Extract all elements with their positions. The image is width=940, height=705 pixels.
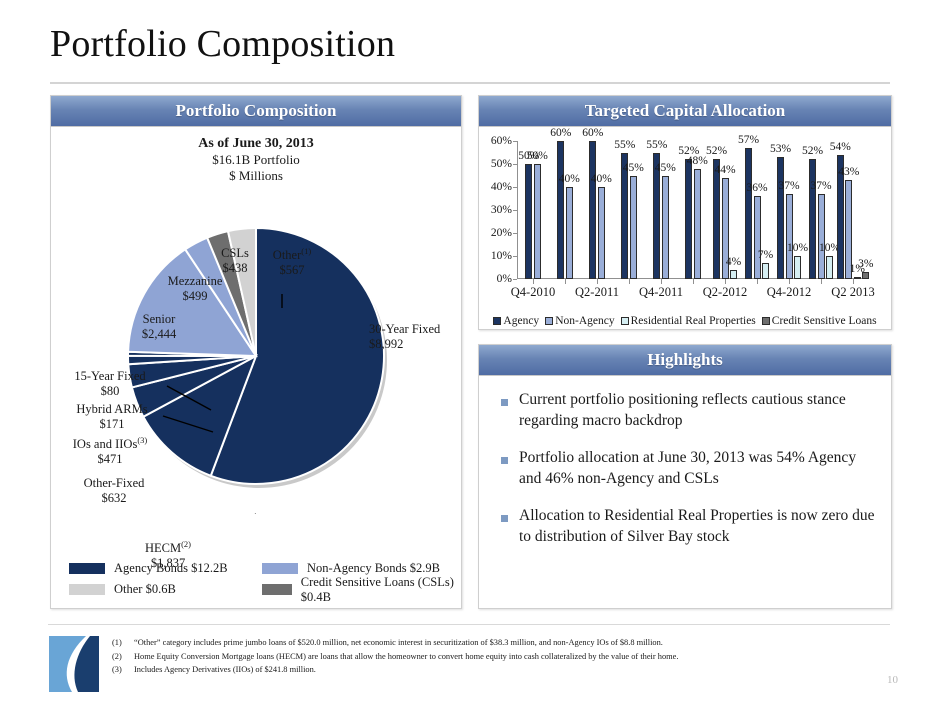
pie-slice-value: $567 <box>257 263 327 278</box>
title-divider <box>50 82 890 84</box>
pie-slice-value: $80 <box>55 384 165 399</box>
bar <box>818 194 825 279</box>
pie-slice-value: $632 <box>59 491 169 506</box>
bullet-icon <box>501 399 508 406</box>
bar-legend-item: Credit Sensitive Loans <box>762 315 877 327</box>
bar-chart-legend: AgencyNon-AgencyResidential Real Propert… <box>479 315 891 327</box>
bar <box>557 141 564 279</box>
y-axis-tick-label: 0% <box>497 273 512 285</box>
bar-legend-label: Non-Agency <box>555 315 614 327</box>
footnote-row: (1)“Other” category includes prime jumbo… <box>112 636 872 650</box>
bar-group: 53%37%10% <box>773 141 805 279</box>
legend-swatch-icon <box>621 317 629 325</box>
legend-swatch-icon <box>493 317 501 325</box>
y-axis-tick-label: 40% <box>491 181 512 193</box>
bar <box>794 256 801 279</box>
bar-value-label: 45% <box>623 162 644 174</box>
bar-value-label: 44% <box>714 164 735 176</box>
bar-chart-plot: 0%10%20%30%40%50%60%50%50%Q4-201060%40%6… <box>517 141 869 279</box>
footnotes: (1)“Other” category includes prime jumbo… <box>112 636 872 677</box>
footnote-row: (3)Includes Agency Derivatives (IIOs) of… <box>112 663 872 677</box>
bar <box>685 159 692 279</box>
x-axis-tick-mark <box>565 279 566 284</box>
bar-value-label: 3% <box>858 258 873 270</box>
bar-value-label: 4% <box>726 256 741 268</box>
targeted-capital-allocation-panel: Targeted Capital Allocation 0%10%20%30%4… <box>478 95 892 330</box>
footer-divider <box>48 624 890 625</box>
portfolio-composition-header: Portfolio Composition <box>51 96 461 127</box>
bar-value-label: 60% <box>582 127 603 139</box>
bar <box>777 157 784 279</box>
bar-value-label: 54% <box>830 141 851 153</box>
bar-legend-label: Credit Sensitive Loans <box>772 315 877 327</box>
pie-slice-name: IOs and IIOs(3) <box>51 435 169 452</box>
bar <box>754 196 761 279</box>
bar <box>745 148 752 279</box>
bar-value-label: 52% <box>706 145 727 157</box>
x-axis-tick-mark <box>853 279 854 284</box>
highlight-text: Portfolio allocation at June 30, 2013 wa… <box>519 448 875 489</box>
y-axis-tick-label: 60% <box>491 135 512 147</box>
bar-value-label: 45% <box>655 162 676 174</box>
bar <box>534 164 541 279</box>
highlights-list: Current portfolio positioning reflects c… <box>479 376 891 548</box>
pie-subtitle-unit: $ Millions <box>51 168 461 184</box>
bar-value-label: 55% <box>614 139 635 151</box>
y-axis-tick-label: 20% <box>491 227 512 239</box>
highlight-item: Allocation to Residential Real Propertie… <box>495 506 875 547</box>
bar <box>826 256 833 279</box>
x-axis-tick-label: Q4-2011 <box>639 285 683 300</box>
bar-value-label: 53% <box>770 143 791 155</box>
company-logo <box>46 633 102 695</box>
pie-slice-label: 30-Year Fixed$8,992 <box>369 322 479 353</box>
x-axis-tick-mark <box>629 279 630 284</box>
legend-swatch-icon <box>69 584 105 595</box>
bar-value-label: 57% <box>738 134 759 146</box>
x-axis-tick-mark <box>789 279 790 284</box>
pie-slice-name: Hybrid ARMs <box>57 402 167 417</box>
pie-slice-value: $2,444 <box>111 327 207 342</box>
pie-slice-label: 15-Year Fixed$80 <box>55 369 165 400</box>
bar <box>854 277 861 279</box>
footnote-row: (2)Home Equity Conversion Mortgage loans… <box>112 650 872 664</box>
y-axis-tick-label: 50% <box>491 158 512 170</box>
pie-slice-label: Mezzanine$499 <box>147 274 243 305</box>
bar-group: 55%45% <box>645 141 677 279</box>
legend-swatch-icon <box>762 317 770 325</box>
pie-slice-value: $499 <box>147 289 243 304</box>
bullet-icon <box>501 457 508 464</box>
bar <box>786 194 793 279</box>
x-axis-tick-label: Q2-2011 <box>575 285 619 300</box>
bar <box>662 176 669 280</box>
targeted-capital-allocation-header: Targeted Capital Allocation <box>479 96 891 127</box>
bar-value-label: 40% <box>591 173 612 185</box>
bar-legend-label: Residential Real Properties <box>631 315 756 327</box>
pie-legend-label: Agency Bonds $12.2B <box>114 561 228 576</box>
footnote-number: (3) <box>112 663 134 677</box>
bar-group: 55%45% <box>613 141 645 279</box>
bar <box>589 141 596 279</box>
legend-swatch-icon <box>69 563 105 574</box>
bar-value-label: 48% <box>687 155 708 167</box>
bar-group: 52%48% <box>677 141 709 279</box>
footnote-marker: (3) <box>137 435 147 445</box>
bar-chart-stage: 0%10%20%30%40%50%60%50%50%Q4-201060%40%6… <box>479 127 891 329</box>
x-axis-tick-mark <box>597 279 598 284</box>
highlights-header: Highlights <box>479 345 891 376</box>
bar-legend-item: Residential Real Properties <box>621 315 756 327</box>
pie-subtitle-portfolio: $16.1B Portfolio <box>51 152 461 168</box>
bar <box>630 176 637 280</box>
pie-legend-label: Other $0.6B <box>114 582 176 597</box>
bar-group: 54%43%1%3% <box>837 141 869 279</box>
x-axis-tick-mark <box>533 279 534 284</box>
bar-legend-label: Agency <box>503 315 539 327</box>
x-axis-tick-label: Q2-2012 <box>703 285 747 300</box>
pie-slice-name: 15-Year Fixed <box>55 369 165 384</box>
pie-subtitle-date: As of June 30, 2013 <box>51 136 461 152</box>
bar <box>525 164 532 279</box>
bar-value-label: 55% <box>646 139 667 151</box>
footnote-text: Includes Agency Derivatives (IIOs) of $2… <box>134 663 316 677</box>
footnote-number: (1) <box>112 636 134 650</box>
pie-slice-name: 30-Year Fixed <box>369 322 479 337</box>
highlights-panel: Highlights Current portfolio positioning… <box>478 344 892 609</box>
y-axis-tick-label: 30% <box>491 204 512 216</box>
portfolio-composition-panel: Portfolio Composition As of June 30, 201… <box>50 95 462 609</box>
bar <box>694 169 701 279</box>
footnote-marker: (1) <box>301 246 311 256</box>
x-axis-tick-mark <box>725 279 726 284</box>
page-number: 10 <box>887 674 898 686</box>
bar-value-label: 40% <box>559 173 580 185</box>
pie-slice-value: $8,992 <box>369 337 479 352</box>
bar-value-label: 52% <box>802 145 823 157</box>
pie-legend-item: Agency Bonds $12.2B <box>69 561 262 576</box>
bar <box>713 159 720 279</box>
footnote-text: Home Equity Conversion Mortgage loans (H… <box>134 650 678 664</box>
bar-group: 60%40% <box>549 141 581 279</box>
bar <box>809 159 816 279</box>
y-axis-tick-mark <box>513 279 517 280</box>
pie-legend: Agency Bonds $12.2BNon-Agency Bonds $2.9… <box>51 558 461 600</box>
x-axis-tick-label: Q2 2013 <box>831 285 874 300</box>
bar <box>862 272 869 279</box>
x-axis-tick-mark <box>821 279 822 284</box>
pie-slice-name: Other-Fixed <box>59 476 169 491</box>
footnote-number: (2) <box>112 650 134 664</box>
bar-group: 52%44%4% <box>709 141 741 279</box>
x-axis-tick-label: Q4-2012 <box>767 285 811 300</box>
bar-value-label: 37% <box>810 180 831 192</box>
highlight-item: Current portfolio positioning reflects c… <box>495 390 875 431</box>
pie-slice-name: HECM(2) <box>113 539 223 556</box>
bullet-icon <box>501 515 508 522</box>
pie-legend-row: Other $0.6BCredit Sensitive Loans (CSLs)… <box>51 579 461 600</box>
bar <box>566 187 573 279</box>
pie-slice-value: $171 <box>57 417 167 432</box>
pie-legend-label: Credit Sensitive Loans (CSLs) $0.4B <box>301 575 455 605</box>
bar-group: 50%50% <box>517 141 549 279</box>
pie-slice-value: $471 <box>51 452 169 467</box>
pie-legend-item: Other $0.6B <box>69 582 262 597</box>
pie-slice-name: Other(1) <box>257 246 327 263</box>
pie-slice-name: Senior <box>111 312 207 327</box>
x-axis-tick-mark <box>693 279 694 284</box>
pie-chart-stage: 30-Year Fixed$8,992HECM(2)$1,837Other-Fi… <box>51 184 461 579</box>
bar-value-label: 43% <box>838 166 859 178</box>
x-axis-tick-label: Q4-2010 <box>511 285 555 300</box>
pie-legend-item: Credit Sensitive Loans (CSLs) $0.4B <box>262 575 455 605</box>
footnote-text: “Other” category includes prime jumbo lo… <box>134 636 663 650</box>
legend-swatch-icon <box>262 563 298 574</box>
highlight-text: Allocation to Residential Real Propertie… <box>519 506 875 547</box>
bar <box>762 263 769 279</box>
bar-group: 60%40% <box>581 141 613 279</box>
y-axis-tick-label: 10% <box>491 250 512 262</box>
pie-subtitle: As of June 30, 2013 $16.1B Portfolio $ M… <box>51 136 461 184</box>
bar-group: 52%37%10% <box>805 141 837 279</box>
legend-swatch-icon <box>545 317 553 325</box>
pie-slice-label: Senior$2,444 <box>111 312 207 343</box>
bar-value-label: 36% <box>746 182 767 194</box>
bar-group: 57%36%7% <box>741 141 773 279</box>
footnote-marker: (2) <box>181 539 191 549</box>
pie-slice-label: Hybrid ARMs$171 <box>57 402 167 433</box>
pie-slice-label: IOs and IIOs(3)$471 <box>51 435 169 468</box>
pie-slice-label: Other(1)$567 <box>257 246 327 279</box>
bar-legend-item: Non-Agency <box>545 315 614 327</box>
bar-legend-item: Agency <box>493 315 539 327</box>
bar-value-label: 50% <box>527 150 548 162</box>
bar-value-label: 7% <box>758 249 773 261</box>
bar <box>598 187 605 279</box>
bar <box>730 270 737 279</box>
legend-swatch-icon <box>262 584 292 595</box>
bar-value-label: 60% <box>550 127 571 139</box>
highlight-text: Current portfolio positioning reflects c… <box>519 390 875 431</box>
bar-value-label: 37% <box>778 180 799 192</box>
x-axis-tick-mark <box>661 279 662 284</box>
highlight-item: Portfolio allocation at June 30, 2013 wa… <box>495 448 875 489</box>
page-title: Portfolio Composition <box>50 22 395 66</box>
pie-slice-label: Other-Fixed$632 <box>59 476 169 507</box>
x-axis-tick-mark <box>757 279 758 284</box>
